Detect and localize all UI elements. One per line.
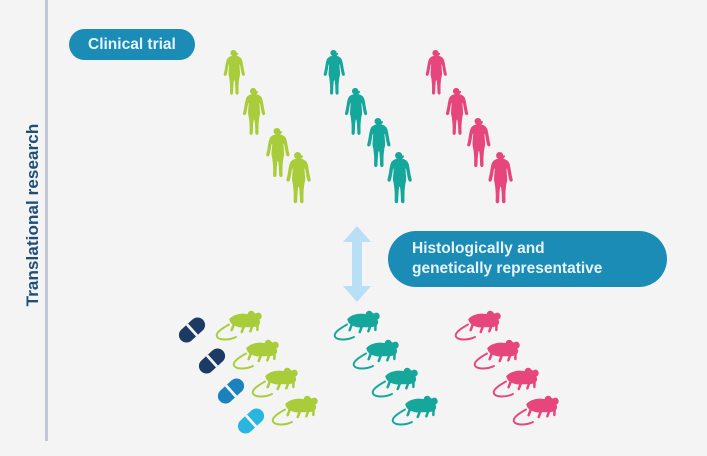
- mouse-group-green-4: [272, 393, 324, 429]
- badge-clinical-trial-label: Clinical trial: [88, 36, 176, 54]
- badge-histologically-genetically-representative: Histologically and genetically represent…: [388, 231, 667, 287]
- double-headed-vertical-arrow-icon: [342, 226, 372, 307]
- mouse-group-pink-4: [513, 393, 565, 429]
- badge-representative-line-2: genetically representative: [412, 259, 602, 279]
- axis-label-translational-research: Translational research: [23, 105, 43, 325]
- human-group-green-4: [281, 152, 314, 206]
- human-group-teal-4: [382, 152, 415, 206]
- badge-representative-line-1: Histologically and: [412, 240, 545, 257]
- badge-representative-text: Histologically and genetically represent…: [412, 239, 602, 279]
- mouse-group-teal-4: [392, 393, 444, 429]
- pill-4-capsule-icon: [233, 403, 269, 439]
- badge-clinical-trial: Clinical trial: [69, 29, 195, 60]
- section-divider-line: [45, 0, 48, 441]
- diagram-canvas: Translational research Clinical trial Hi…: [0, 0, 707, 456]
- human-group-pink-4: [483, 152, 516, 206]
